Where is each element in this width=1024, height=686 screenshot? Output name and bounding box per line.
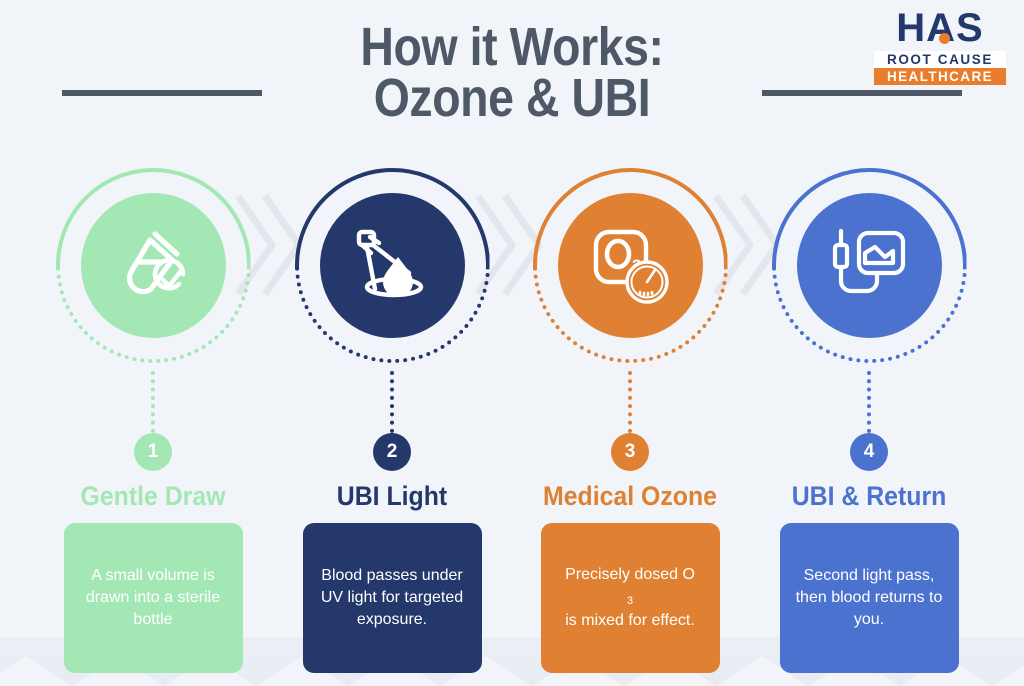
step-4-icon-ring <box>772 168 967 363</box>
step-1-title: Gentle Draw <box>44 483 263 510</box>
step-3-icon-disc: 3 <box>558 193 703 338</box>
step-2-connector <box>390 371 394 433</box>
test-tube-check-icon <box>111 224 195 308</box>
process-step-1: 1 Gentle Draw A small volume is drawn in… <box>34 168 272 673</box>
step-1-description-card: A small volume is drawn into a sterile b… <box>64 523 243 673</box>
step-2-icon-disc <box>320 193 465 338</box>
ozone-gauge-icon: 3 <box>587 223 673 309</box>
step-2-number: 2 <box>387 441 398 463</box>
step-4-description: Second light pass, then blood returns to… <box>794 565 945 631</box>
process-step-2: 2 UBI Light Blood passes under UV light … <box>273 168 511 673</box>
step-4-connector <box>867 371 871 433</box>
step-3-description-pre: Precisely dosed O <box>565 564 695 586</box>
step-2-title: UBI Light <box>283 483 502 510</box>
step-4-title: UBI & Return <box>760 483 979 510</box>
step-1-number-badge: 1 <box>134 433 172 471</box>
step-3-description-post: is mixed for effect. <box>565 610 695 632</box>
step-3-description: Precisely dosed O3 is mixed for effect. <box>565 564 695 631</box>
step-1-description: A small volume is drawn into a sterile b… <box>78 565 229 631</box>
process-steps: 1 Gentle Draw A small volume is drawn in… <box>0 168 1024 668</box>
step-2-description: Blood passes under UV light for targeted… <box>317 565 468 631</box>
step-3-connector <box>628 371 632 433</box>
step-3-description-subscript: 3 <box>627 596 633 608</box>
page-title: How it Works: Ozone & UBI <box>72 22 953 125</box>
page-title-line1: How it Works: <box>72 22 953 73</box>
step-4-number: 4 <box>864 441 875 463</box>
step-1-icon-ring <box>56 168 251 363</box>
iv-infusion-icon <box>828 225 910 307</box>
title-rule-left <box>62 90 262 96</box>
step-3-number-badge: 3 <box>611 433 649 471</box>
uv-lamp-blood-drop-icon <box>349 223 435 309</box>
step-2-number-badge: 2 <box>373 433 411 471</box>
step-2-description-card: Blood passes under UV light for targeted… <box>303 523 482 673</box>
step-3-title: Medical Ozone <box>521 483 740 510</box>
step-1-number: 1 <box>148 441 159 463</box>
step-3-icon-ring: 3 <box>533 168 728 363</box>
page-title-line2: Ozone & UBI <box>72 73 953 124</box>
process-step-3: 3 3 Medical Ozone Precisely dosed O3 is … <box>511 168 749 673</box>
step-1-connector <box>151 371 155 433</box>
step-4-description-card: Second light pass, then blood returns to… <box>780 523 959 673</box>
step-3-description-card: Precisely dosed O3 is mixed for effect. <box>541 523 720 673</box>
step-3-number: 3 <box>625 441 636 463</box>
step-4-number-badge: 4 <box>850 433 888 471</box>
process-step-4: 4 UBI & Return Second light pass, then b… <box>750 168 988 673</box>
step-1-icon-disc <box>81 193 226 338</box>
title-rule-right <box>762 90 962 96</box>
step-4-icon-disc <box>797 193 942 338</box>
step-2-icon-ring <box>295 168 490 363</box>
